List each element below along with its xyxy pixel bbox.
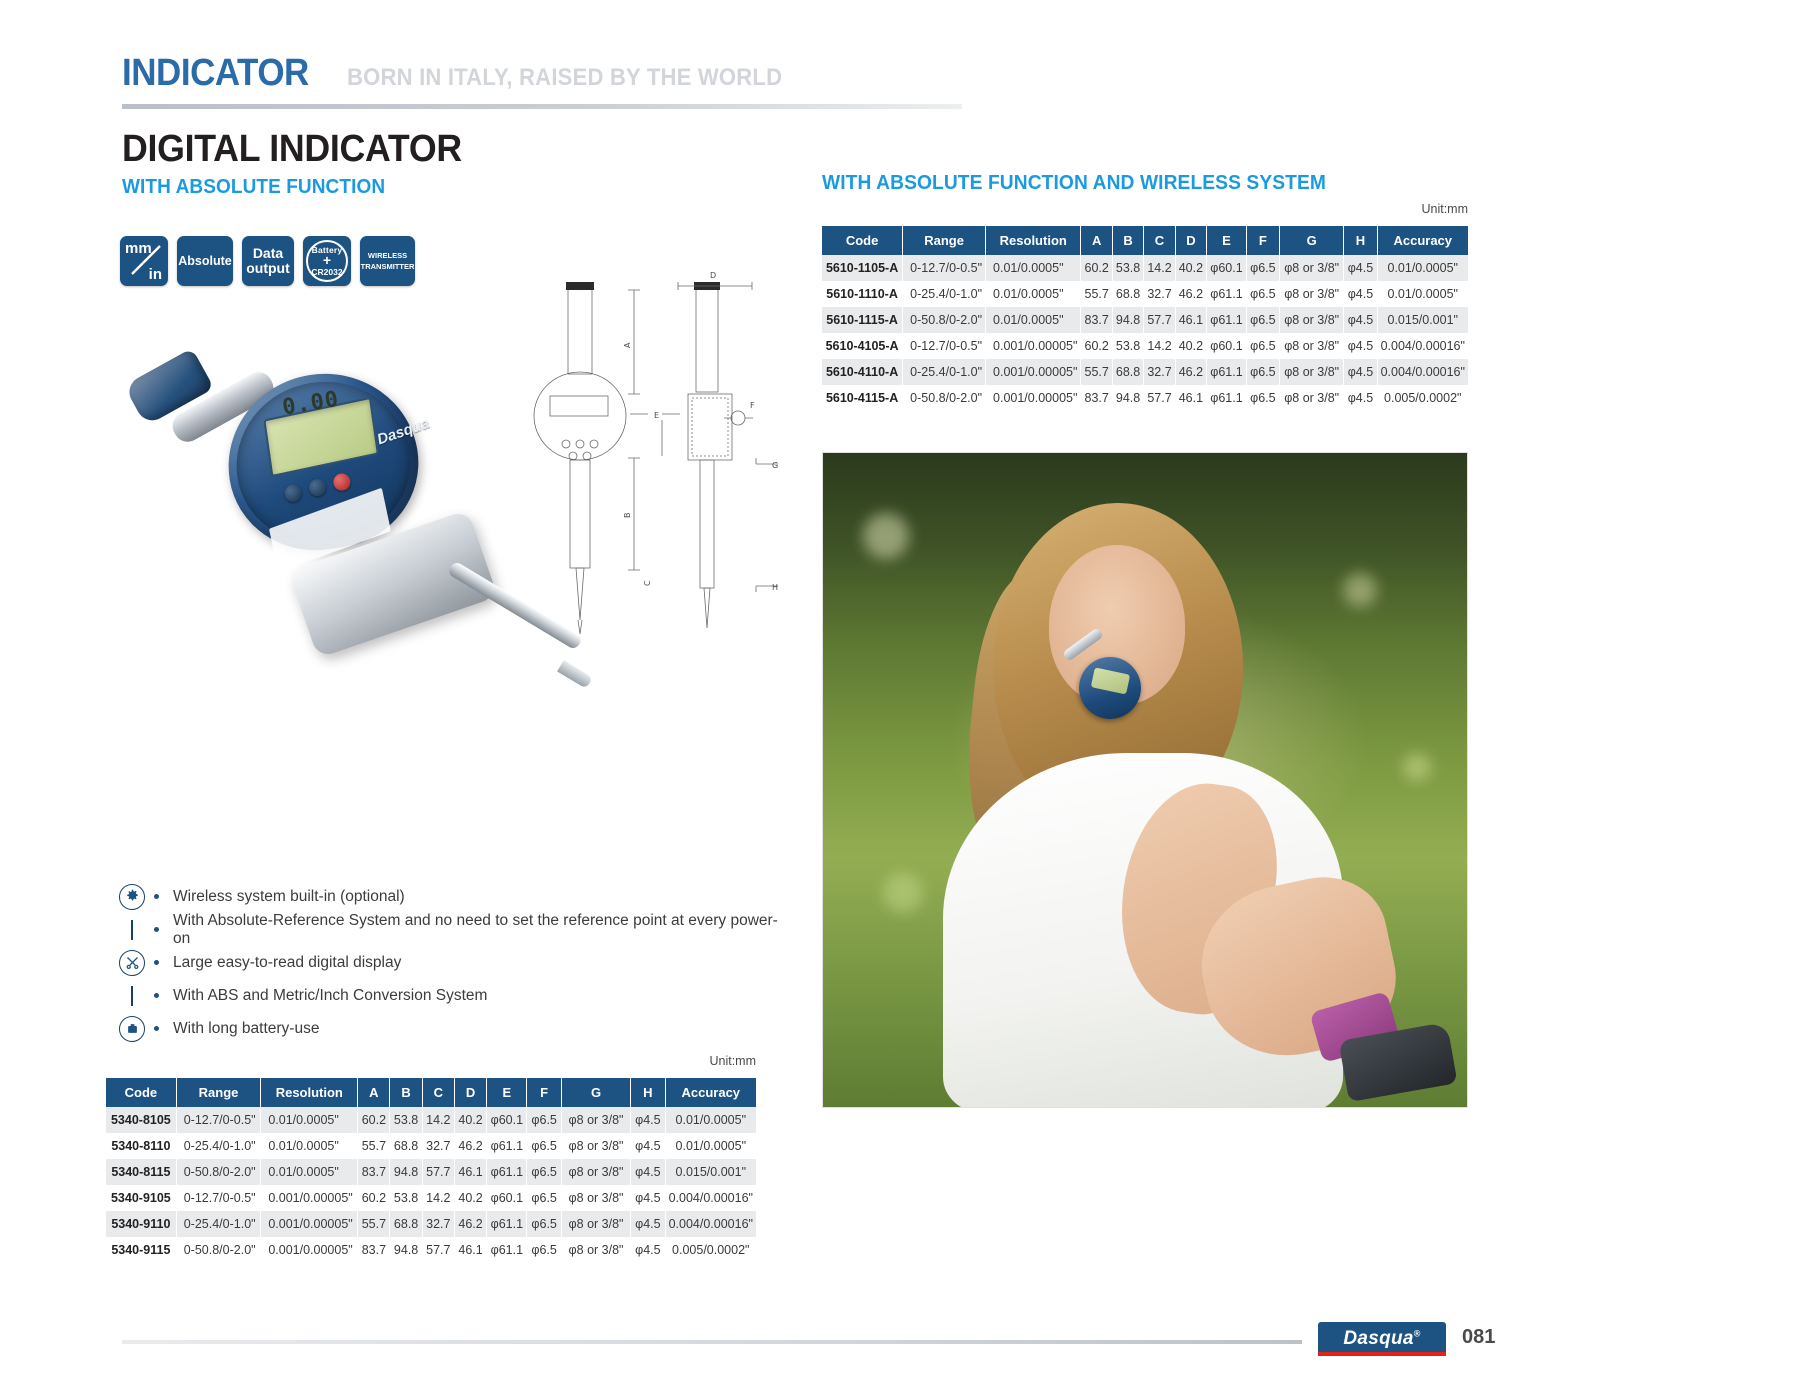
cell-accuracy: 0.015/0.001" — [665, 1159, 756, 1185]
cell-e: φ61.1 — [487, 1133, 527, 1159]
cell-g: φ8 or 3/8" — [1279, 359, 1343, 385]
mm-in-badge-bottom: in — [149, 266, 162, 283]
cell-range: 0-50.8/0-2.0" — [903, 385, 986, 411]
cell-range: 0-50.8/0-2.0" — [176, 1159, 261, 1185]
cell-a: 60.2 — [1081, 255, 1112, 281]
header-divider — [122, 104, 962, 109]
cell-code: 5340-8110 — [106, 1133, 176, 1159]
cell-g: φ8 or 3/8" — [561, 1211, 630, 1237]
unit-label-left: Unit:mm — [106, 1054, 756, 1068]
cell-b: 68.8 — [390, 1133, 422, 1159]
cell-resolution: 0.01/0.0005" — [986, 281, 1081, 307]
table-row: 5340-81150-50.8/0-2.0"0.01/0.0005"83.794… — [106, 1159, 756, 1185]
col-code: Code — [822, 226, 903, 255]
col-g: G — [1279, 226, 1343, 255]
cell-a: 55.7 — [358, 1133, 390, 1159]
spec-table-right-wrap: Code Range Resolution A B C D E F G H Ac… — [822, 226, 1468, 411]
cell-code: 5340-9105 — [106, 1185, 176, 1211]
lifestyle-photo — [822, 452, 1468, 1108]
cell-g: φ8 or 3/8" — [561, 1133, 630, 1159]
catalog-page: INDICATOR BORN IN ITALY, RAISED BY THE W… — [0, 0, 1815, 1400]
cell-f: φ6.5 — [527, 1107, 561, 1133]
bullet-icon-slot — [110, 950, 154, 976]
spec-table-left-wrap: Code Range Resolution A B C D E F G H Ac… — [106, 1078, 756, 1263]
cell-range: 0-50.8/0-2.0" — [903, 307, 986, 333]
bullet-row: With ABS and Metric/Inch Conversion Syst… — [110, 979, 790, 1012]
cell-e: φ60.1 — [487, 1107, 527, 1133]
cell-f: φ6.5 — [1246, 385, 1279, 411]
cell-b: 94.8 — [1112, 385, 1143, 411]
cell-b: 68.8 — [1112, 359, 1143, 385]
cell-b: 53.8 — [1112, 255, 1143, 281]
cell-h: φ4.5 — [1344, 359, 1377, 385]
cell-g: φ8 or 3/8" — [1279, 281, 1343, 307]
cell-d: 40.2 — [1175, 333, 1206, 359]
cell-e: φ60.1 — [1207, 333, 1247, 359]
mm-in-badge: mm in — [120, 236, 168, 286]
table-row: 5340-91050-12.7/0-0.5"0.001/0.00005"60.2… — [106, 1185, 756, 1211]
bullet-text: With Absolute-Reference System and no ne… — [173, 912, 790, 948]
cell-d: 40.2 — [454, 1107, 486, 1133]
cell-c: 57.7 — [422, 1159, 454, 1185]
cell-range: 0-12.7/0-0.5" — [176, 1107, 261, 1133]
dim-label-B: B — [623, 513, 632, 519]
table-row: 5340-91100-25.4/0-1.0"0.001/0.00005"55.7… — [106, 1211, 756, 1237]
cell-a: 83.7 — [1081, 385, 1112, 411]
table-row: 5610-1110-A0-25.4/0-1.0"0.01/0.0005"55.7… — [822, 281, 1468, 307]
cell-g: φ8 or 3/8" — [1279, 255, 1343, 281]
footer-logo: Dasqua® — [1318, 1322, 1446, 1356]
cell-e: φ61.1 — [1207, 385, 1247, 411]
col-a: A — [1081, 226, 1112, 255]
cell-resolution: 0.001/0.00005" — [986, 359, 1081, 385]
cell-code: 5610-1115-A — [822, 307, 903, 333]
cell-c: 14.2 — [422, 1107, 454, 1133]
cell-code: 5610-4115-A — [822, 385, 903, 411]
col-f: F — [1246, 226, 1279, 255]
cell-h: φ4.5 — [631, 1133, 665, 1159]
col-accuracy: Accuracy — [1377, 226, 1468, 255]
cell-range: 0-12.7/0-0.5" — [903, 333, 986, 359]
cell-b: 53.8 — [1112, 333, 1143, 359]
cell-a: 83.7 — [358, 1159, 390, 1185]
spec-table-right-body: 5610-1105-A0-12.7/0-0.5"0.01/0.0005"60.2… — [822, 255, 1468, 411]
col-f: F — [527, 1078, 561, 1107]
cell-c: 14.2 — [1144, 333, 1175, 359]
cell-e: φ61.1 — [487, 1159, 527, 1185]
col-h: H — [1344, 226, 1377, 255]
cell-g: φ8 or 3/8" — [1279, 385, 1343, 411]
footer-registered-mark: ® — [1414, 1329, 1421, 1339]
dash-icon — [131, 920, 132, 940]
cell-accuracy: 0.004/0.00016" — [665, 1185, 756, 1211]
dim-label-H: H — [772, 583, 778, 592]
dash-icon — [131, 986, 132, 1006]
cell-d: 46.1 — [454, 1159, 486, 1185]
bullet-dot — [154, 894, 159, 899]
feature-badge-row: mm in Absolute Data output Battery + CR2… — [120, 236, 415, 286]
table-row: 5610-1105-A0-12.7/0-0.5"0.01/0.0005"60.2… — [822, 255, 1468, 281]
dim-label-F: F — [750, 401, 755, 410]
cell-d: 46.2 — [1175, 359, 1206, 385]
cell-accuracy: 0.01/0.0005" — [1377, 255, 1468, 281]
cell-g: φ8 or 3/8" — [561, 1159, 630, 1185]
cell-code: 5340-9110 — [106, 1211, 176, 1237]
page-title: DIGITAL INDICATOR — [122, 128, 462, 171]
cell-f: φ6.5 — [1246, 281, 1279, 307]
cell-h: φ4.5 — [631, 1211, 665, 1237]
dim-label-A: A — [623, 342, 632, 348]
right-section-title: WITH ABSOLUTE FUNCTION AND WIRELESS SYST… — [822, 172, 1326, 195]
cell-accuracy: 0.015/0.001" — [1377, 307, 1468, 333]
bullet-row: With long battery-use — [110, 1012, 790, 1045]
wireless-transmitter-badge: WIRELESS TRANSMITTER — [360, 236, 415, 286]
cell-a: 55.7 — [1081, 359, 1112, 385]
bullet-dot — [154, 960, 159, 965]
cell-resolution: 0.01/0.0005" — [261, 1159, 358, 1185]
unit-label-right: Unit:mm — [822, 202, 1468, 216]
cell-f: φ6.5 — [527, 1133, 561, 1159]
cell-f: φ6.5 — [1246, 255, 1279, 281]
cell-a: 60.2 — [358, 1107, 390, 1133]
table-row: 5340-91150-50.8/0-2.0"0.001/0.00005"83.7… — [106, 1237, 756, 1263]
footer-divider — [122, 1340, 1302, 1344]
page-number: 081 — [1462, 1326, 1495, 1349]
cell-accuracy: 0.01/0.0005" — [1377, 281, 1468, 307]
cell-resolution: 0.01/0.0005" — [261, 1133, 358, 1159]
cell-b: 53.8 — [390, 1107, 422, 1133]
dim-label-E: E — [654, 411, 659, 420]
cell-accuracy: 0.01/0.0005" — [665, 1133, 756, 1159]
cell-accuracy: 0.004/0.00016" — [1377, 333, 1468, 359]
cell-h: φ4.5 — [631, 1159, 665, 1185]
cell-g: φ8 or 3/8" — [561, 1237, 630, 1263]
cell-f: φ6.5 — [527, 1237, 561, 1263]
cell-e: φ61.1 — [487, 1211, 527, 1237]
cell-h: φ4.5 — [1344, 281, 1377, 307]
bullet-icon-slot — [110, 1016, 154, 1042]
cell-g: φ8 or 3/8" — [561, 1185, 630, 1211]
cell-e: φ61.1 — [1207, 307, 1247, 333]
cell-range: 0-25.4/0-1.0" — [903, 359, 986, 385]
bokeh-dot — [883, 873, 923, 913]
bullet-row: Large easy-to-read digital display — [110, 946, 790, 979]
photo-indicator-lcd — [1091, 667, 1130, 694]
cell-c: 14.2 — [422, 1185, 454, 1211]
cell-f: φ6.5 — [527, 1185, 561, 1211]
battery-circle-icon: Battery + CR2032 — [306, 240, 348, 282]
dim-label-D: D — [710, 271, 716, 280]
footer-brand-name: Dasqua — [1343, 1328, 1413, 1349]
cell-b: 53.8 — [390, 1185, 422, 1211]
cell-range: 0-12.7/0-0.5" — [176, 1185, 261, 1211]
cell-resolution: 0.001/0.00005" — [986, 385, 1081, 411]
spec-table-left: Code Range Resolution A B C D E F G H Ac… — [106, 1078, 756, 1263]
cell-d: 46.1 — [1175, 307, 1206, 333]
col-resolution: Resolution — [261, 1078, 358, 1107]
cell-e: φ60.1 — [487, 1185, 527, 1211]
bullet-text: With long battery-use — [173, 1020, 319, 1038]
cell-a: 60.2 — [1081, 333, 1112, 359]
bullet-dot — [154, 1026, 159, 1031]
cell-a: 55.7 — [1081, 281, 1112, 307]
cell-code: 5610-1110-A — [822, 281, 903, 307]
cell-b: 68.8 — [390, 1211, 422, 1237]
feature-bullet-list: Wireless system built-in (optional) With… — [110, 880, 790, 1045]
cell-h: φ4.5 — [1344, 255, 1377, 281]
col-e: E — [1207, 226, 1247, 255]
cell-range: 0-12.7/0-0.5" — [903, 255, 986, 281]
cell-accuracy: 0.004/0.00016" — [665, 1211, 756, 1237]
cell-c: 32.7 — [422, 1133, 454, 1159]
spec-table-left-body: 5340-81050-12.7/0-0.5"0.01/0.0005"60.253… — [106, 1107, 756, 1263]
cell-d: 46.1 — [1175, 385, 1206, 411]
cell-code: 5340-8105 — [106, 1107, 176, 1133]
cell-range: 0-25.4/0-1.0" — [176, 1211, 261, 1237]
battery-icon — [119, 1016, 145, 1042]
cell-accuracy: 0.005/0.0002" — [665, 1237, 756, 1263]
bullet-row: With Absolute-Reference System and no ne… — [110, 913, 790, 946]
bullet-icon-slot — [110, 884, 154, 910]
cell-accuracy: 0.01/0.0005" — [665, 1107, 756, 1133]
col-c: C — [422, 1078, 454, 1107]
col-e: E — [487, 1078, 527, 1107]
cell-d: 40.2 — [454, 1185, 486, 1211]
table-row: 5340-81050-12.7/0-0.5"0.01/0.0005"60.253… — [106, 1107, 756, 1133]
table-row: 5610-4110-A0-25.4/0-1.0"0.001/0.00005"55… — [822, 359, 1468, 385]
cell-b: 94.8 — [1112, 307, 1143, 333]
cell-c: 57.7 — [1144, 307, 1175, 333]
cell-resolution: 0.001/0.00005" — [261, 1237, 358, 1263]
cell-accuracy: 0.005/0.0002" — [1377, 385, 1468, 411]
cell-e: φ61.1 — [487, 1237, 527, 1263]
cell-e: φ61.1 — [1207, 281, 1247, 307]
cell-b: 94.8 — [390, 1159, 422, 1185]
tools-icon — [119, 950, 145, 976]
cell-e: φ61.1 — [1207, 359, 1247, 385]
cell-a: 83.7 — [1081, 307, 1112, 333]
cell-h: φ4.5 — [1344, 307, 1377, 333]
cell-d: 46.1 — [454, 1237, 486, 1263]
gear-icon — [119, 884, 145, 910]
bokeh-dot — [863, 513, 909, 559]
absolute-badge: Absolute — [177, 236, 233, 286]
table-row: 5340-81100-25.4/0-1.0"0.01/0.0005"55.768… — [106, 1133, 756, 1159]
bullet-icon-slot — [110, 986, 154, 1006]
col-a: A — [358, 1078, 390, 1107]
cell-g: φ8 or 3/8" — [561, 1107, 630, 1133]
data-output-line1: Data — [246, 246, 290, 261]
cell-code: 5340-9115 — [106, 1237, 176, 1263]
col-range: Range — [176, 1078, 261, 1107]
cell-c: 57.7 — [1144, 385, 1175, 411]
col-g: G — [561, 1078, 630, 1107]
cell-resolution: 0.01/0.0005" — [986, 255, 1081, 281]
col-d: D — [454, 1078, 486, 1107]
bullet-icon-slot — [110, 920, 154, 940]
table-row: 5610-1115-A0-50.8/0-2.0"0.01/0.0005"83.7… — [822, 307, 1468, 333]
table-header-row: Code Range Resolution A B C D E F G H Ac… — [822, 226, 1468, 255]
wireless-line2: TRANSMITTER — [361, 261, 415, 272]
bullet-dot — [154, 927, 159, 932]
battery-badge-plus: + — [323, 255, 331, 266]
cell-f: φ6.5 — [1246, 359, 1279, 385]
col-code: Code — [106, 1078, 176, 1107]
cell-b: 94.8 — [390, 1237, 422, 1263]
table-header-row: Code Range Resolution A B C D E F G H Ac… — [106, 1078, 756, 1107]
battery-badge: Battery + CR2032 — [303, 236, 351, 286]
col-c: C — [1144, 226, 1175, 255]
cell-d: 46.2 — [454, 1133, 486, 1159]
col-h: H — [631, 1078, 665, 1107]
dim-label-G: G — [772, 461, 778, 470]
cell-g: φ8 or 3/8" — [1279, 307, 1343, 333]
page-subtitle: WITH ABSOLUTE FUNCTION — [122, 176, 385, 199]
bullet-text: Large easy-to-read digital display — [173, 954, 401, 972]
wireless-line1: WIRELESS — [361, 250, 415, 261]
header-category: INDICATOR — [122, 52, 309, 95]
spec-table-right: Code Range Resolution A B C D E F G H Ac… — [822, 226, 1468, 411]
col-b: B — [390, 1078, 422, 1107]
cell-h: φ4.5 — [1344, 333, 1377, 359]
bullet-dot — [154, 993, 159, 998]
cell-f: φ6.5 — [1246, 307, 1279, 333]
cell-c: 14.2 — [1144, 255, 1175, 281]
cell-c: 32.7 — [1144, 281, 1175, 307]
bullet-text: Wireless system built-in (optional) — [173, 888, 405, 906]
cell-a: 55.7 — [358, 1211, 390, 1237]
col-range: Range — [903, 226, 986, 255]
data-output-line2: output — [246, 261, 290, 276]
cell-resolution: 0.001/0.00005" — [261, 1211, 358, 1237]
cell-g: φ8 or 3/8" — [1279, 333, 1343, 359]
bullet-row: Wireless system built-in (optional) — [110, 880, 790, 913]
cell-d: 40.2 — [1175, 255, 1206, 281]
cell-c: 32.7 — [1144, 359, 1175, 385]
footer-accent-bar — [1318, 1352, 1446, 1356]
header-tagline: BORN IN ITALY, RAISED BY THE WORLD — [347, 64, 782, 92]
bullet-text: With ABS and Metric/Inch Conversion Syst… — [173, 987, 487, 1005]
cell-f: φ6.5 — [527, 1211, 561, 1237]
col-resolution: Resolution — [986, 226, 1081, 255]
cell-resolution: 0.001/0.00005" — [986, 333, 1081, 359]
technical-drawings: A B C D E F G H — [510, 268, 790, 668]
bokeh-dot — [1403, 753, 1431, 781]
cell-c: 57.7 — [422, 1237, 454, 1263]
cell-f: φ6.5 — [1246, 333, 1279, 359]
cell-resolution: 0.01/0.0005" — [986, 307, 1081, 333]
cell-range: 0-25.4/0-1.0" — [176, 1133, 261, 1159]
cell-h: φ4.5 — [631, 1185, 665, 1211]
cell-code: 5340-8115 — [106, 1159, 176, 1185]
cell-code: 5610-4105-A — [822, 333, 903, 359]
battery-badge-bottom: CR2032 — [311, 267, 342, 277]
cell-h: φ4.5 — [631, 1237, 665, 1263]
table-row: 5610-4115-A0-50.8/0-2.0"0.001/0.00005"83… — [822, 385, 1468, 411]
cell-a: 60.2 — [358, 1185, 390, 1211]
cell-h: φ4.5 — [631, 1107, 665, 1133]
col-accuracy: Accuracy — [665, 1078, 756, 1107]
cell-resolution: 0.001/0.00005" — [261, 1185, 358, 1211]
cell-code: 5610-1105-A — [822, 255, 903, 281]
page-header: INDICATOR BORN IN ITALY, RAISED BY THE W… — [122, 52, 1122, 95]
data-output-badge: Data output — [242, 236, 294, 286]
cell-resolution: 0.01/0.0005" — [261, 1107, 358, 1133]
cell-b: 68.8 — [1112, 281, 1143, 307]
cell-d: 46.2 — [454, 1211, 486, 1237]
cell-c: 32.7 — [422, 1211, 454, 1237]
cell-range: 0-25.4/0-1.0" — [903, 281, 986, 307]
cell-accuracy: 0.004/0.00016" — [1377, 359, 1468, 385]
bokeh-dot — [1343, 573, 1377, 607]
table-row: 5610-4105-A0-12.7/0-0.5"0.001/0.00005"60… — [822, 333, 1468, 359]
cell-a: 83.7 — [358, 1237, 390, 1263]
cell-f: φ6.5 — [527, 1159, 561, 1185]
cell-code: 5610-4110-A — [822, 359, 903, 385]
cell-d: 46.2 — [1175, 281, 1206, 307]
cell-e: φ60.1 — [1207, 255, 1247, 281]
dim-label-C: C — [643, 580, 652, 586]
cell-h: φ4.5 — [1344, 385, 1377, 411]
col-b: B — [1112, 226, 1143, 255]
cell-range: 0-50.8/0-2.0" — [176, 1237, 261, 1263]
col-d: D — [1175, 226, 1206, 255]
